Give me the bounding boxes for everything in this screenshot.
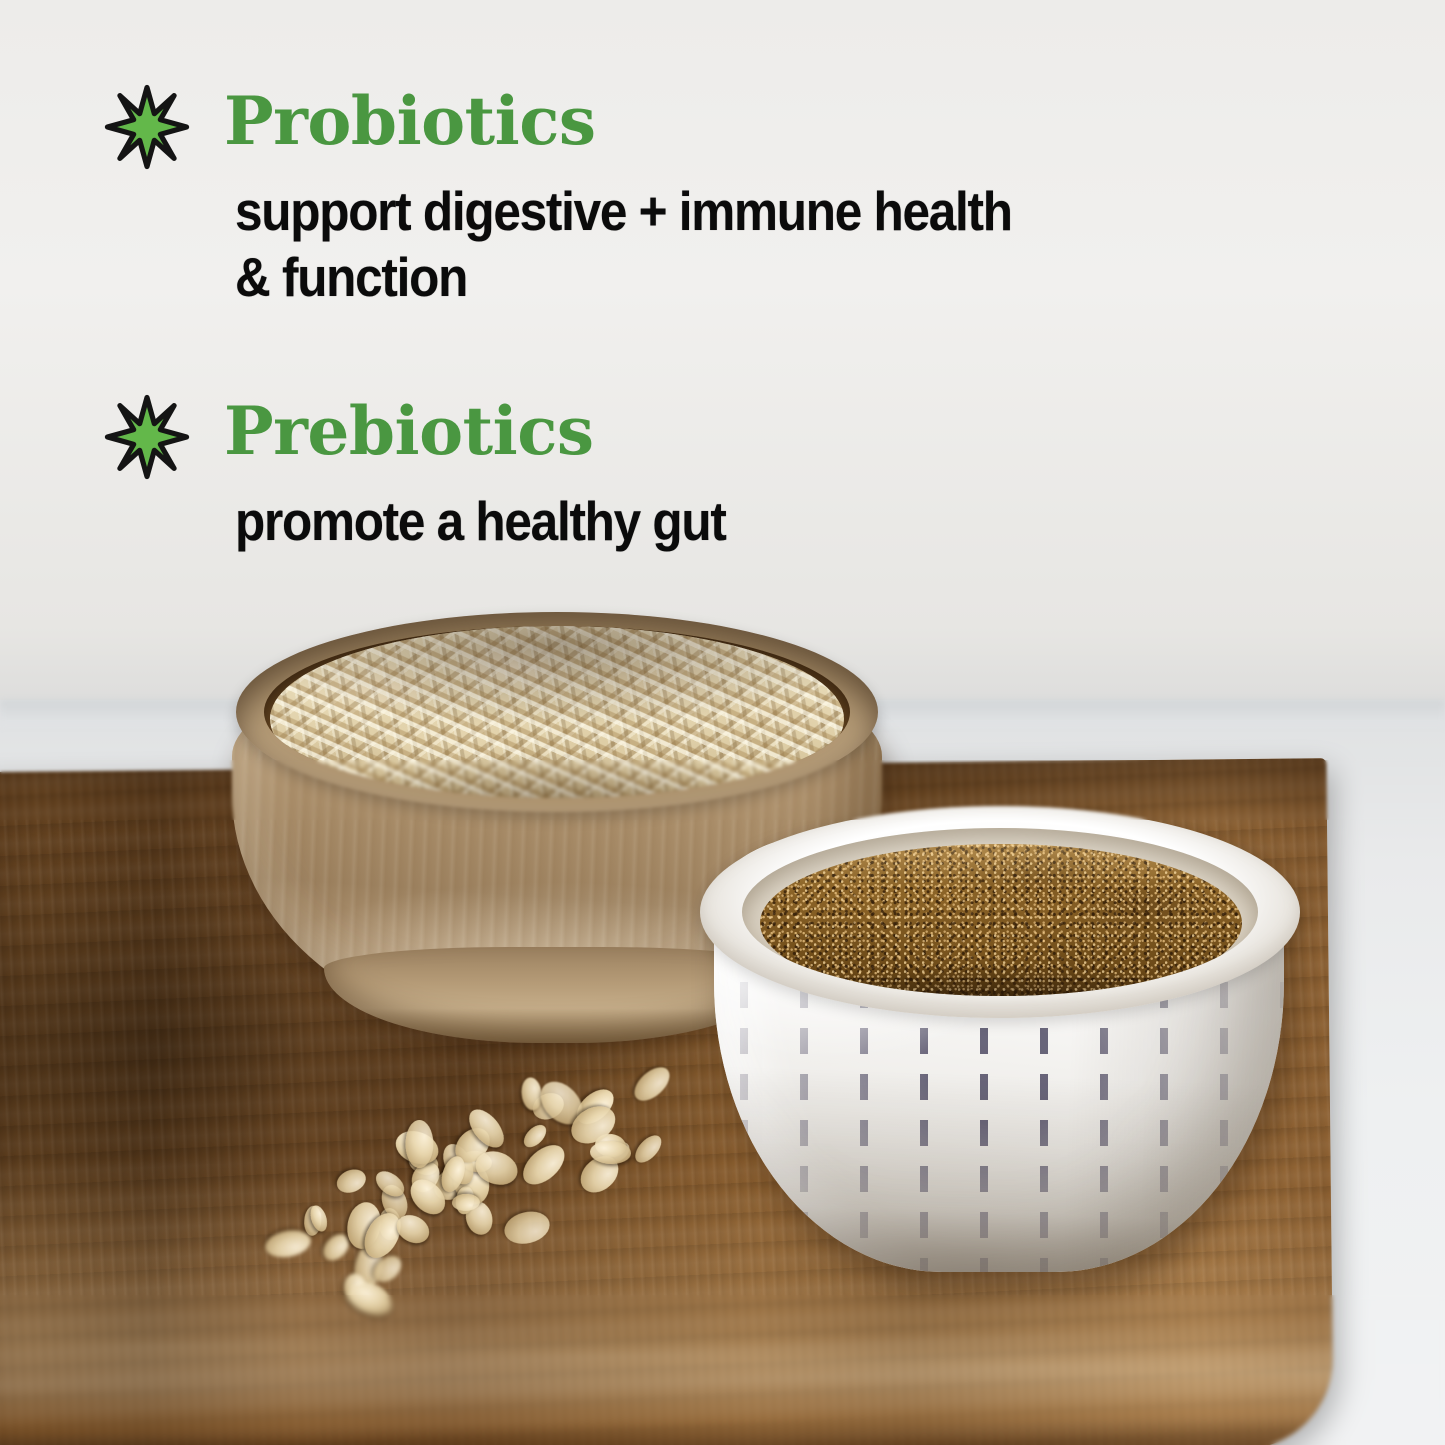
claim-probiotics-title: Probiotics — [224, 86, 596, 156]
ceramic-bowl-of-powder — [700, 806, 1300, 1278]
wooden-bowl-interior — [264, 626, 850, 798]
claim-prebiotics: Prebiotics promote a healthy gut — [104, 392, 780, 554]
claim-probiotics-body: support digestive + immune health & func… — [235, 178, 1012, 310]
infographic-canvas: Probiotics support digestive + immune he… — [0, 0, 1445, 1445]
starburst-icon — [104, 84, 190, 170]
claim-prebiotics-heading: Prebiotics — [104, 392, 780, 480]
cutting-board-front-edge — [0, 1328, 1334, 1445]
starburst-icon — [104, 394, 190, 480]
brown-powder-pile — [760, 844, 1242, 996]
ceramic-bowl-interior — [742, 828, 1258, 996]
claim-probiotics-heading: Probiotics — [104, 82, 1098, 170]
ceramic-dashed-stripe-pattern — [714, 982, 1284, 1272]
claim-probiotics: Probiotics support digestive + immune he… — [104, 82, 1098, 310]
claim-prebiotics-body: promote a healthy gut — [235, 488, 726, 554]
rolled-oats-pile — [270, 626, 844, 798]
claim-prebiotics-title: Prebiotics — [224, 396, 594, 466]
wooden-bowl-rim — [236, 612, 878, 812]
